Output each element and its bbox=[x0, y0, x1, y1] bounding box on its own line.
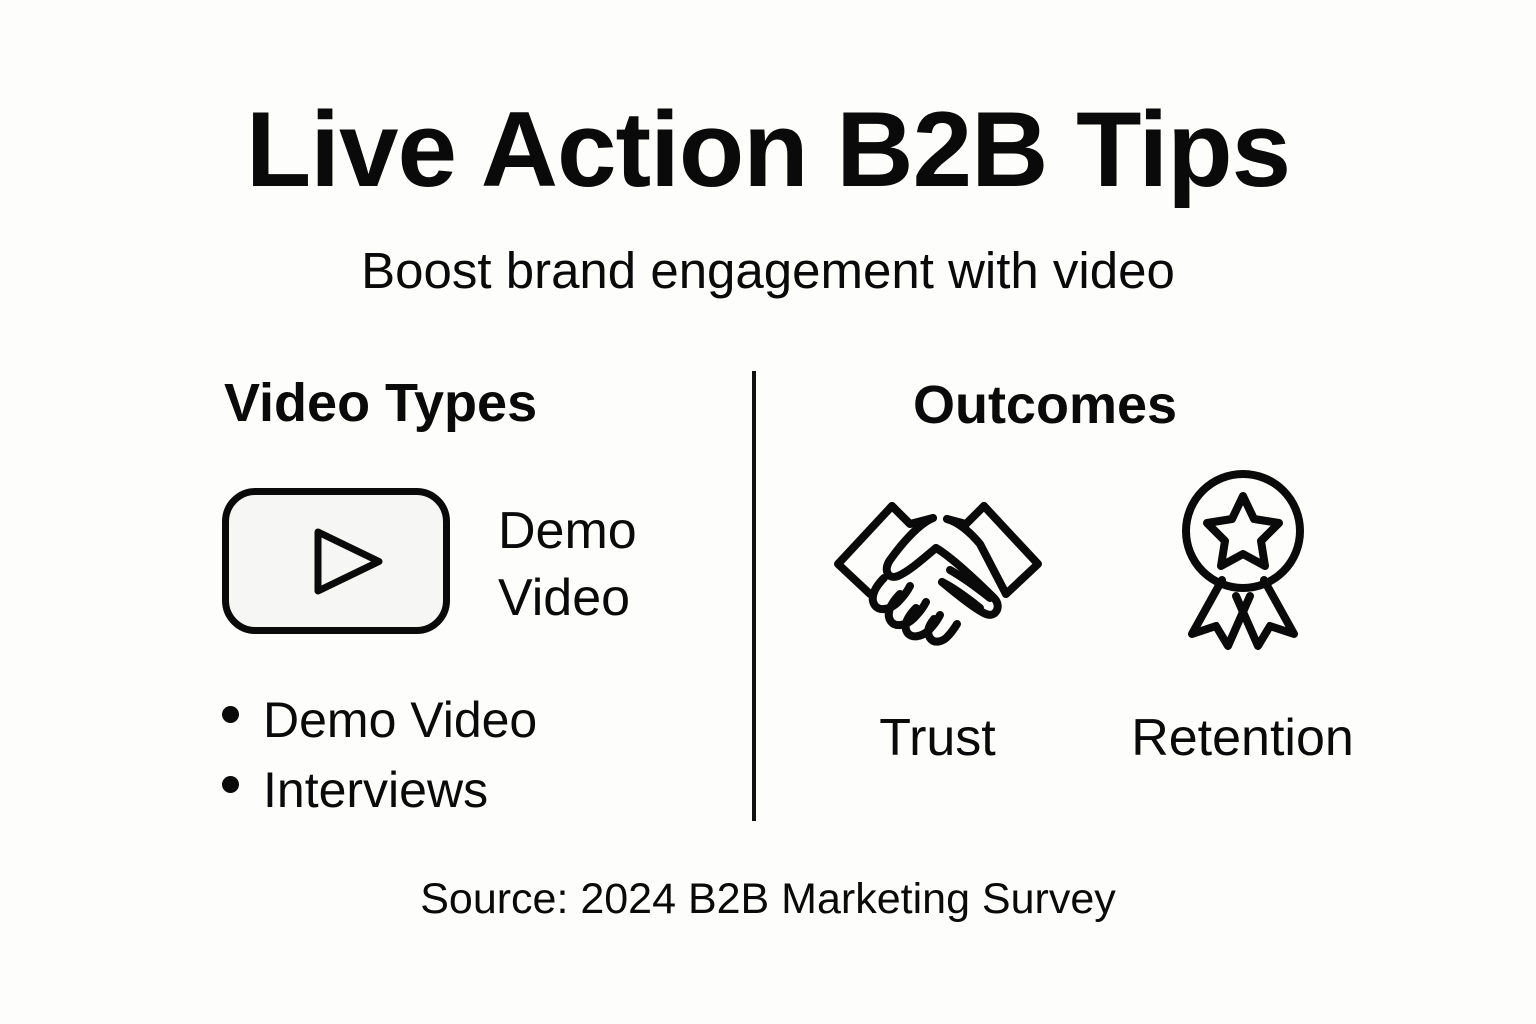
list-item: Interviews bbox=[222, 755, 537, 825]
page-title: Live Action B2B Tips bbox=[0, 96, 1536, 203]
featured-video-item: Demo Video bbox=[222, 488, 708, 634]
header: Live Action B2B Tips Boost brand engagem… bbox=[0, 96, 1536, 296]
infographic-canvas: Live Action B2B Tips Boost brand engagem… bbox=[0, 0, 1536, 1024]
source-note: Source: 2024 B2B Marketing Survey bbox=[0, 878, 1536, 921]
handshake-icon bbox=[830, 465, 1046, 650]
footer: Source: 2024 B2B Marketing Survey bbox=[0, 878, 1536, 921]
bullet-dot-icon bbox=[222, 706, 239, 723]
outcome-retention: Retention bbox=[1135, 465, 1350, 764]
video-types-list: Demo Video Interviews bbox=[222, 685, 537, 825]
outcomes-group: Trust bbox=[830, 465, 1350, 764]
outcomes-heading: Outcomes bbox=[760, 378, 1330, 432]
outcome-trust: Trust bbox=[830, 465, 1045, 764]
outcomes-column: Outcomes bbox=[760, 360, 1536, 830]
award-medal-icon bbox=[1178, 465, 1308, 650]
outcome-label: Retention bbox=[1131, 650, 1354, 764]
bullet-dot-icon bbox=[222, 776, 239, 793]
outcome-label: Trust bbox=[879, 650, 996, 764]
featured-video-label: Demo Video bbox=[450, 488, 708, 631]
video-types-column: Video Types Demo Video Demo Video bbox=[0, 360, 745, 830]
list-item-label: Interviews bbox=[263, 755, 488, 825]
list-item-label: Demo Video bbox=[263, 685, 537, 755]
video-types-heading: Video Types bbox=[224, 376, 537, 430]
play-video-icon bbox=[222, 488, 450, 634]
content-columns: Video Types Demo Video Demo Video bbox=[0, 360, 1536, 830]
column-divider bbox=[752, 371, 756, 821]
page-subtitle: Boost brand engagement with video bbox=[0, 203, 1536, 296]
list-item: Demo Video bbox=[222, 685, 537, 755]
